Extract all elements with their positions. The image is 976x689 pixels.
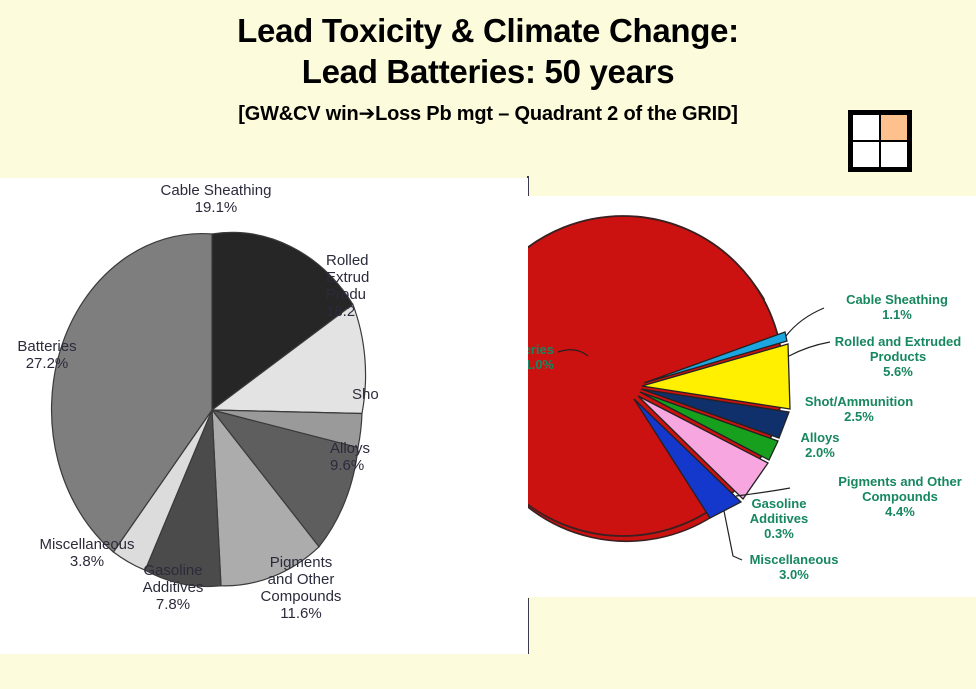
grid-cell-bottom-right	[881, 142, 907, 167]
left-label-rolled-extruded: Rolled Extrud Produ 18.2	[326, 252, 422, 320]
right-label-shot-ammunition: Shot/Ammunition 2.5%	[784, 394, 934, 424]
subtitle-part-2: Loss Pb mgt – Quadrant 2 of the GRID]	[375, 103, 738, 125]
left-label-shot: Sho	[352, 386, 412, 403]
left-pie-chart: Cable Sheathing 19.1% Rolled Extrud Prod…	[0, 178, 528, 654]
subtitle-part-1: [GW&CV win	[238, 103, 358, 125]
grid-cell-top-right-highlighted	[881, 115, 907, 140]
page-title-line-1: Lead Toxicity & Climate Change:	[0, 10, 976, 51]
grid-cell-top-left	[853, 115, 879, 140]
right-label-rolled-extruded: Rolled and Extruded Products 5.6%	[820, 334, 976, 379]
slide-canvas: Lead Toxicity & Climate Change: Lead Bat…	[0, 0, 976, 689]
right-chart-panel: Batteries 81.0% Cable Sheathing 1.1% Rol…	[528, 196, 976, 597]
right-label-batteries: Batteries 81.0%	[528, 342, 554, 372]
right-label-gasoline-additives: Gasoline Additives 0.3%	[724, 496, 834, 541]
left-pie-slices	[52, 232, 366, 586]
leader-cable-sheathing	[786, 308, 824, 336]
left-label-batteries: Batteries 27.2%	[2, 338, 92, 372]
right-pie-slices	[528, 216, 790, 541]
slide-subtitle: [GW&CV win➔Loss Pb mgt – Quadrant 2 of t…	[0, 101, 976, 126]
left-label-gasoline-additives: Gasoline Additives 7.8%	[128, 562, 218, 613]
grid-cell-bottom-left	[853, 142, 879, 167]
quadrant-grid-icon	[848, 110, 912, 172]
left-label-cable-sheathing: Cable Sheathing 19.1%	[136, 182, 296, 216]
right-label-cable-sheathing: Cable Sheathing 1.1%	[822, 292, 972, 322]
slide-header: Lead Toxicity & Climate Change: Lead Bat…	[0, 10, 976, 126]
right-pie-chart: Batteries 81.0% Cable Sheathing 1.1% Rol…	[528, 196, 976, 597]
left-label-pigments: Pigments and Other Compounds 11.6%	[246, 554, 356, 622]
right-label-pigments: Pigments and Other Compounds 4.4%	[824, 474, 976, 519]
arrow-right-icon: ➔	[359, 101, 376, 125]
left-label-alloys: Alloys 9.6%	[330, 440, 410, 474]
right-label-miscellaneous: Miscellaneous 3.0%	[724, 552, 864, 582]
left-chart-panel: Cable Sheathing 19.1% Rolled Extrud Prod…	[0, 178, 528, 654]
page-title-line-2: Lead Batteries: 50 years	[0, 51, 976, 92]
right-label-alloys: Alloys 2.0%	[770, 430, 870, 460]
